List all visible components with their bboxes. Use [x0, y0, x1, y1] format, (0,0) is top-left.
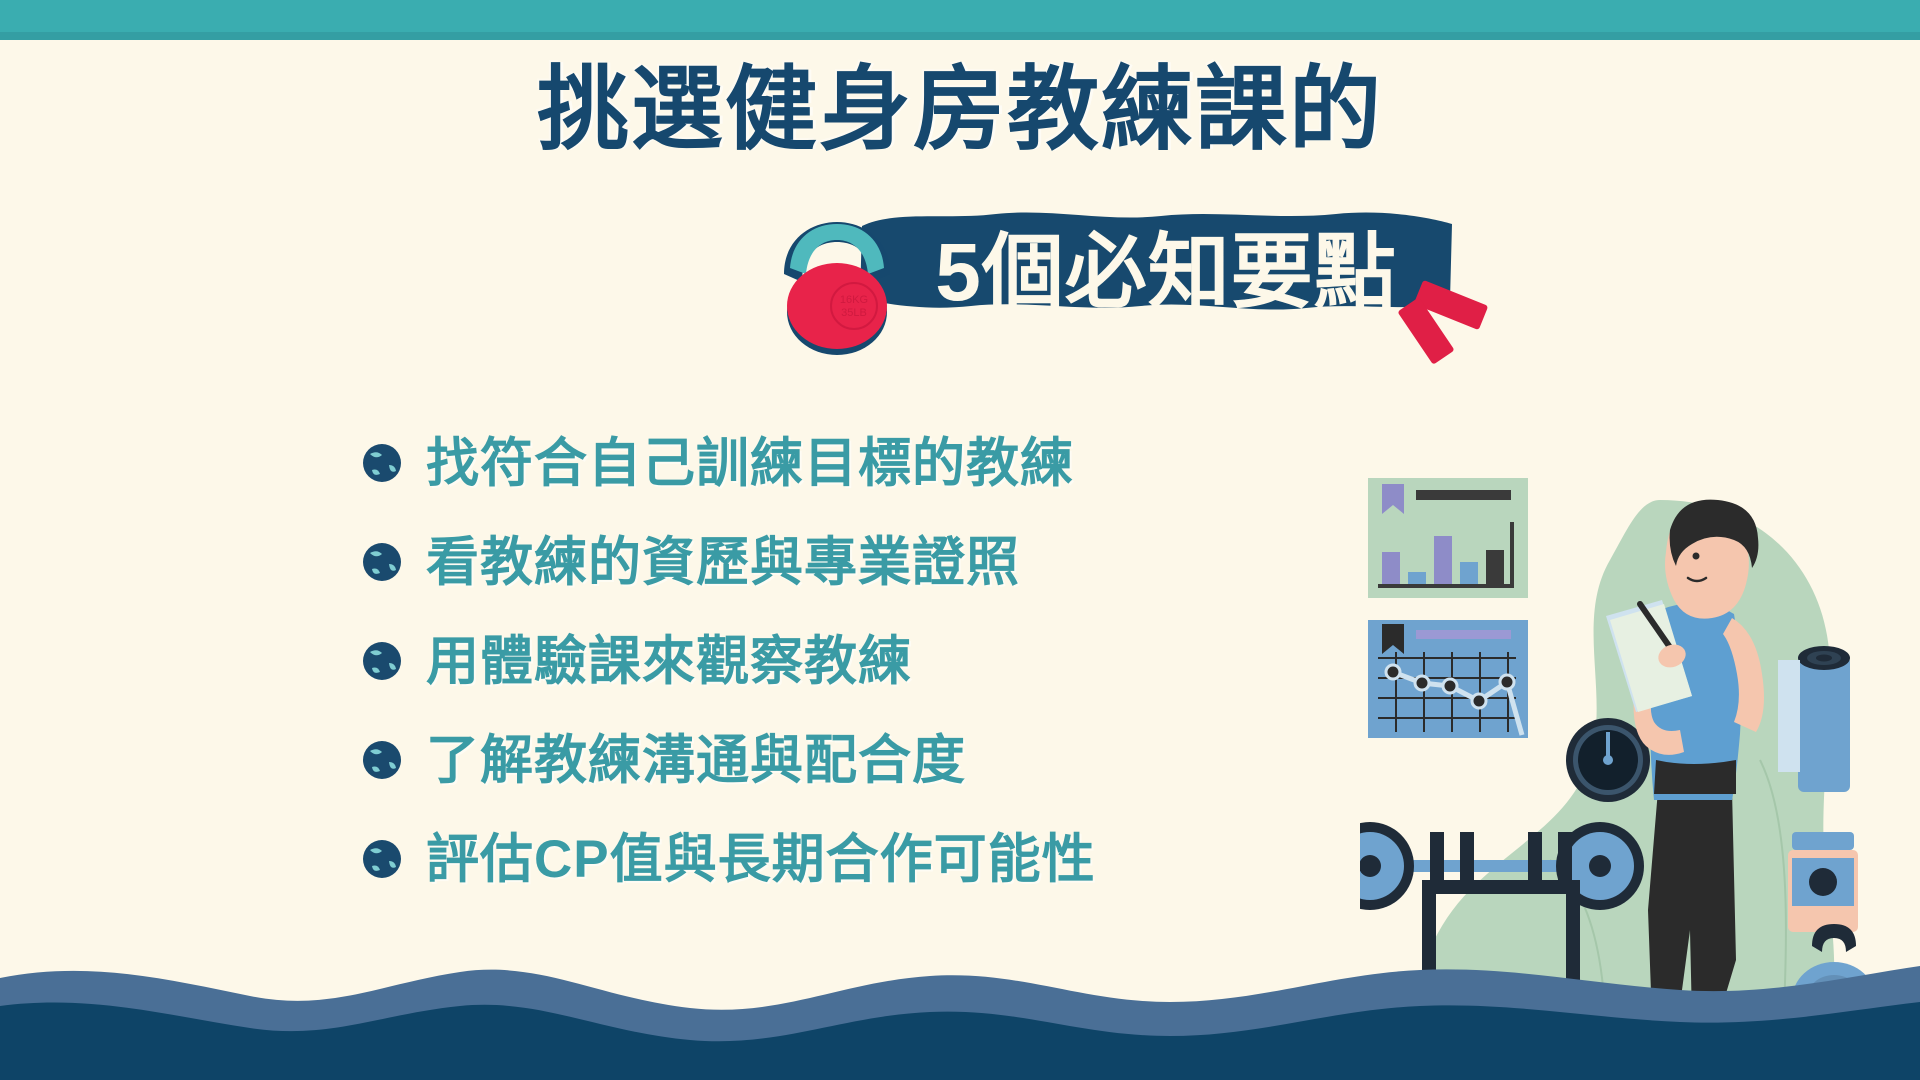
yoga-mat-roll-icon	[1778, 646, 1850, 792]
list-item-label: 看教練的資歷與專業證照	[426, 536, 1020, 589]
globe-bullet-icon	[360, 540, 404, 584]
top-accent-bar-shade	[0, 32, 1920, 40]
list-item-label: 評估CP值與長期合作可能性	[426, 833, 1096, 886]
red-dashes-icon	[1398, 240, 1538, 370]
list-item[interactable]: 找符合自己訓練目標的教練	[360, 425, 1310, 501]
bullet-list: 找符合自己訓練目標的教練 看教練的資歷與專業證照 用體驗課來觀察教練	[360, 425, 1310, 920]
globe-bullet-icon	[360, 441, 404, 485]
list-item-label: 找符合自己訓練目標的教練	[426, 437, 1074, 490]
subtitle-banner: 5個必知要點	[0, 196, 1920, 330]
globe-bullet-icon	[360, 738, 404, 782]
page-title: 挑選健身房教練課的	[537, 62, 1383, 159]
card-title-bar	[1416, 490, 1511, 500]
slide-canvas: 挑選健身房教練課的 16KG 35LB 5個必知要點 找符合自己訓練	[0, 0, 1920, 1080]
list-item-label: 了解教練溝通與配合度	[426, 734, 966, 787]
line-chart-card	[1368, 620, 1528, 738]
list-item-label: 用體驗課來觀察教練	[426, 635, 912, 688]
list-item[interactable]: 評估CP值與長期合作可能性	[360, 821, 1310, 897]
list-item[interactable]: 用體驗課來觀察教練	[360, 623, 1310, 699]
svg-text:35LB: 35LB	[841, 307, 867, 319]
banner-label: 5個必知要點	[876, 212, 1456, 316]
list-item[interactable]: 了解教練溝通與配合度	[360, 722, 1310, 798]
supplement-jar-icon	[1788, 832, 1858, 932]
eye	[1693, 553, 1700, 560]
globe-bullet-icon	[360, 837, 404, 881]
globe-bullet-icon	[360, 639, 404, 683]
bar-chart-card	[1368, 478, 1528, 598]
list-item[interactable]: 看教練的資歷與專業證照	[360, 524, 1310, 600]
bottom-waves	[0, 920, 1920, 1080]
card-title-bar	[1416, 630, 1511, 639]
svg-text:16KG: 16KG	[840, 294, 868, 306]
title-block: 挑選健身房教練課的	[0, 62, 1920, 159]
